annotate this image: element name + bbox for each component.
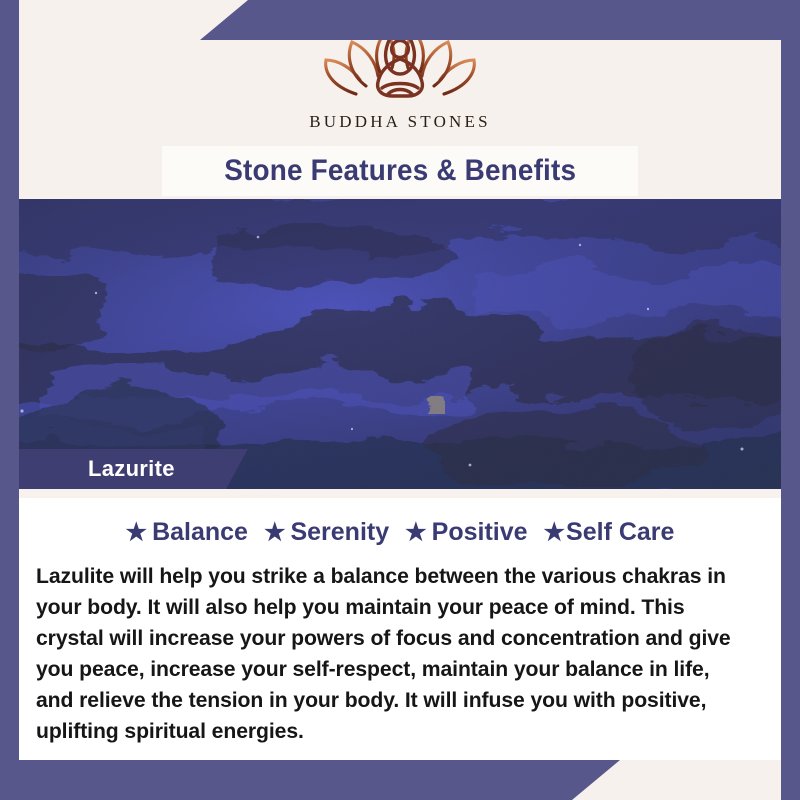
frame-border-bottom [0,760,620,800]
page-title-banner: Stone Features & Benefits [162,146,638,196]
keyword-list: ★ Balance ★ Serenity ★ Positive ★ Self C… [19,518,781,547]
stone-photo-texture [0,197,800,489]
keyword-label: Self Care [566,518,674,547]
stone-name-label: Lazurite [88,456,175,482]
keyword-item-self-care: ★ Self Care [544,518,675,547]
frame-border-right [781,0,800,800]
stone-name-banner: Lazurite [0,449,248,489]
keyword-item-positive: ★ Positive [405,518,527,547]
star-icon: ★ [405,521,427,545]
keyword-label: Positive [432,518,528,547]
stone-photo [0,197,800,489]
frame-border-top [200,0,800,40]
stone-info-card: BUDDHA STONES Stone Features & Benefits [0,0,800,800]
frame-border-left [0,0,19,800]
keyword-label: Serenity [290,518,389,547]
keyword-item-serenity: ★ Serenity [264,518,389,547]
star-icon: ★ [264,521,286,545]
stone-description: Lazulite will help you strike a balance … [36,561,749,747]
page-title: Stone Features & Benefits [224,154,576,188]
panel-top-strip [19,489,781,498]
star-icon: ★ [544,521,566,545]
keyword-label: Balance [152,518,248,547]
keyword-item-balance: ★ Balance [126,518,248,547]
brand-name: BUDDHA STONES [309,112,491,132]
content-panel: ★ Balance ★ Serenity ★ Positive ★ Self C… [19,489,781,760]
star-icon: ★ [126,521,148,545]
